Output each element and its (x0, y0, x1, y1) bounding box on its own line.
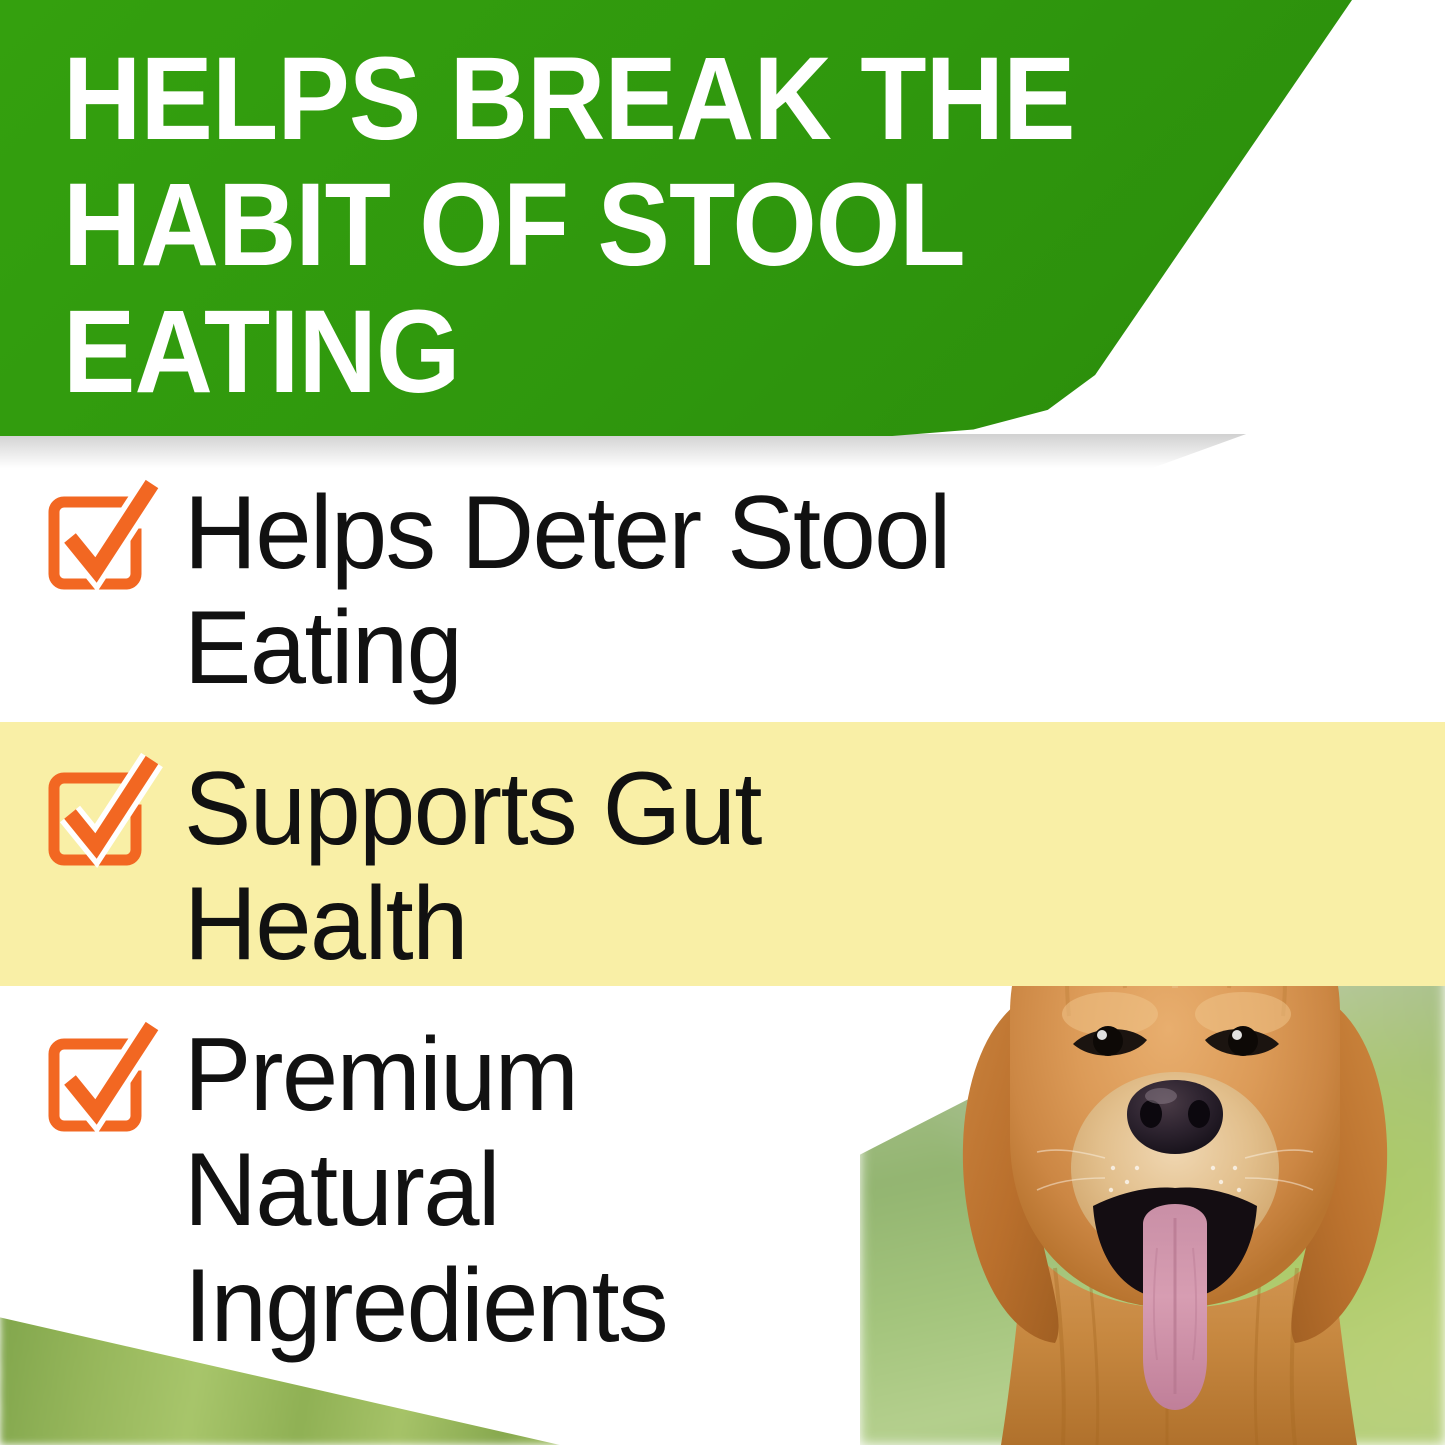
checkbox-checked-icon (44, 482, 156, 594)
checkbox-checked-icon (44, 1024, 156, 1136)
benefit-label: Supports Gut Health (184, 752, 761, 983)
benefit-label: Helps Deter Stool Eating (184, 476, 950, 707)
benefit-label: Premium Natural Ingredients (184, 1018, 667, 1364)
benefit-item-3: Premium Natural Ingredients (44, 1018, 682, 1364)
benefit-item-1: Helps Deter Stool Eating (44, 476, 974, 707)
benefit-item-2: Supports Gut Health (44, 752, 779, 983)
product-feature-card: HELPS BREAK THE HABIT OF STOOL EATING He… (0, 0, 1445, 1445)
checkbox-checked-icon (44, 758, 156, 870)
benefits-list: Helps Deter Stool Eating Supports Gut He… (0, 0, 1445, 1445)
